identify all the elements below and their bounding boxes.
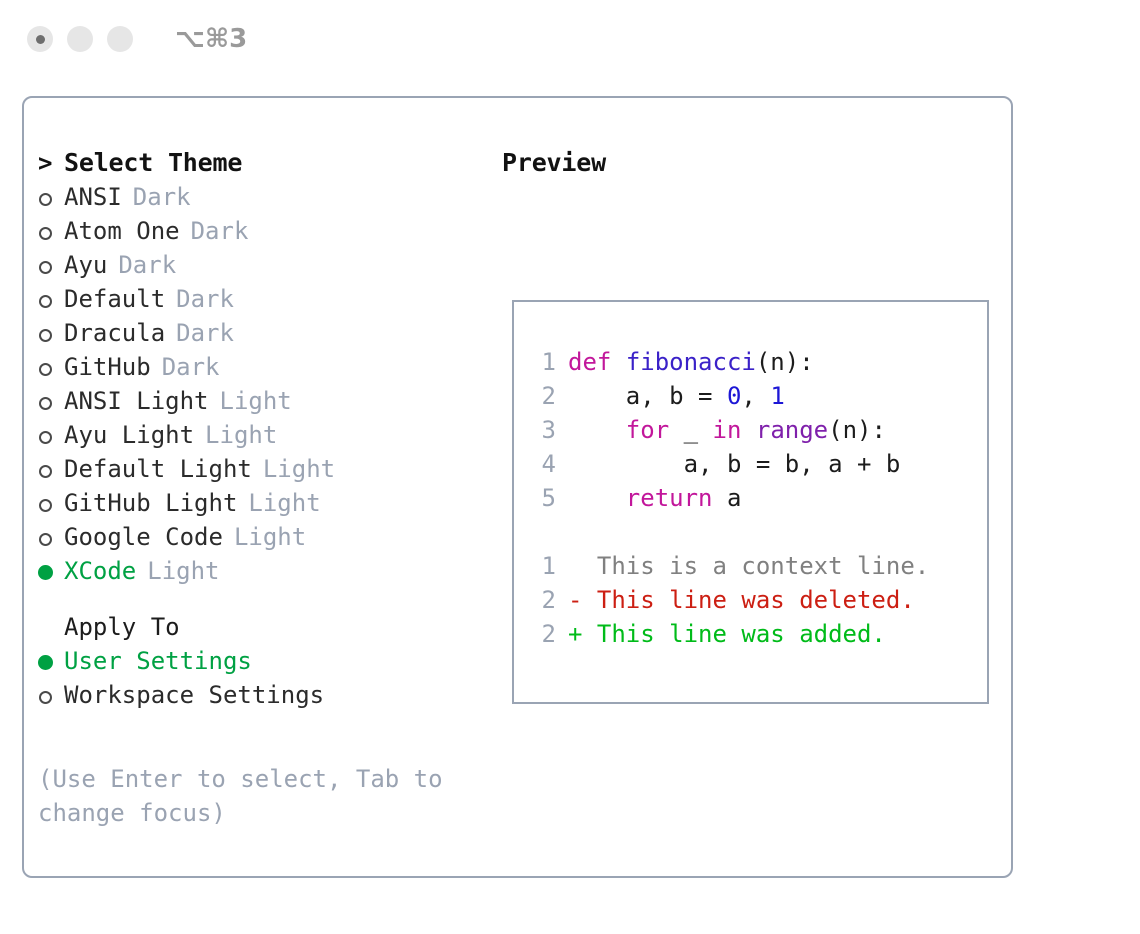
apply-to-option-label: User Settings xyxy=(64,644,252,678)
code-token: fibonacci xyxy=(626,348,756,376)
theme-option-label: Ayu Light xyxy=(64,418,194,452)
radio-empty-icon xyxy=(39,329,52,342)
code-token: a xyxy=(713,484,742,512)
theme-option-label: ANSI xyxy=(64,180,122,214)
window-titlebar: ⌥⌘3 xyxy=(0,0,1140,78)
theme-option-tag: Light xyxy=(263,452,335,486)
theme-option-marker xyxy=(38,554,64,588)
code-token xyxy=(568,416,626,444)
theme-option-marker xyxy=(38,316,64,350)
theme-option-row[interactable]: Atom OneDark xyxy=(38,214,494,248)
code-line: 5 return a xyxy=(534,481,929,515)
list-spacer xyxy=(38,588,494,610)
theme-option-tag: Light xyxy=(147,554,219,588)
code-token: , xyxy=(741,382,770,410)
apply-to-option-row[interactable]: User Settings xyxy=(38,644,494,678)
caret-icon: > xyxy=(38,146,64,180)
code-line-number: 5 xyxy=(534,481,556,515)
radio-empty-icon xyxy=(39,431,52,444)
diff-line: 2+ This line was added. xyxy=(534,617,929,651)
theme-option-row[interactable]: Ayu LightLight xyxy=(38,418,494,452)
theme-option-tag: Light xyxy=(234,520,306,554)
radio-empty-icon xyxy=(39,193,52,206)
app-window: ⌥⌘3 >Select Theme ANSIDarkAtom OneDarkAy… xyxy=(0,0,1140,934)
code-token: in xyxy=(713,416,742,444)
theme-option-label: XCode xyxy=(64,554,136,588)
theme-option-marker xyxy=(38,486,64,520)
main-card: >Select Theme ANSIDarkAtom OneDarkAyuDar… xyxy=(22,96,1013,878)
code-line: 4 a, b = b, a + b xyxy=(534,447,929,481)
theme-option-tag: Dark xyxy=(162,350,220,384)
theme-option-row[interactable]: XCodeLight xyxy=(38,554,494,588)
theme-option-label: Google Code xyxy=(64,520,223,554)
theme-option-label: GitHub xyxy=(64,350,151,384)
radio-empty-icon xyxy=(39,691,52,704)
shortcut-label: ⌥⌘3 xyxy=(175,26,247,52)
radio-empty-icon xyxy=(39,499,52,512)
theme-option-label: Default Light xyxy=(64,452,252,486)
theme-option-tag: Dark xyxy=(176,316,234,350)
theme-option-marker xyxy=(38,452,64,486)
preview-heading: Preview xyxy=(502,146,1002,180)
preview-panel: 1def fibonacci(n):2 a, b = 0, 13 for _ i… xyxy=(512,300,989,704)
apply-to-option-row[interactable]: Workspace Settings xyxy=(38,678,494,712)
theme-option-marker xyxy=(38,214,64,248)
theme-option-tag: Light xyxy=(220,384,292,418)
theme-option-tag: Dark xyxy=(118,248,176,282)
theme-option-row[interactable]: Default LightLight xyxy=(38,452,494,486)
radio-selected-icon xyxy=(38,565,53,580)
code-line-number: 2 xyxy=(534,379,556,413)
theme-option-tag: Light xyxy=(205,418,277,452)
radio-empty-icon xyxy=(39,397,52,410)
code-token: (n): xyxy=(828,416,886,444)
theme-option-marker xyxy=(38,418,64,452)
maximize-dot-icon[interactable] xyxy=(107,26,133,52)
code-line: 1def fibonacci(n): xyxy=(534,345,929,379)
radio-empty-icon xyxy=(39,227,52,240)
radio-empty-icon xyxy=(39,363,52,376)
radio-empty-icon xyxy=(39,295,52,308)
theme-option-row[interactable]: GitHubDark xyxy=(38,350,494,384)
code-line: 3 for _ in range(n): xyxy=(534,413,929,447)
close-dot-inner xyxy=(36,35,45,44)
diff-line-number: 2 xyxy=(534,617,556,651)
theme-list-column: >Select Theme ANSIDarkAtom OneDarkAyuDar… xyxy=(38,146,494,712)
minimize-dot-icon[interactable] xyxy=(67,26,93,52)
theme-option-row[interactable]: GitHub LightLight xyxy=(38,486,494,520)
diff-line: 2- This line was deleted. xyxy=(534,583,929,617)
diff-line-text: - This line was deleted. xyxy=(568,586,915,614)
code-token: range xyxy=(756,416,828,444)
theme-option-label: GitHub Light xyxy=(64,486,237,520)
theme-option-marker xyxy=(38,180,64,214)
theme-option-tag: Dark xyxy=(133,180,191,214)
theme-option-row[interactable]: AyuDark xyxy=(38,248,494,282)
theme-option-label: Dracula xyxy=(64,316,165,350)
code-token: def xyxy=(568,348,611,376)
code-token: a, b = b, a + b xyxy=(568,450,900,478)
theme-option-tag: Dark xyxy=(191,214,249,248)
code-token xyxy=(611,348,625,376)
code-token: 1 xyxy=(770,382,784,410)
preview-column: Preview xyxy=(502,146,1002,180)
code-line: 2 a, b = 0, 1 xyxy=(534,379,929,413)
apply-to-heading: Apply To xyxy=(38,610,494,644)
theme-option-marker xyxy=(38,282,64,316)
apply-to-option-label: Workspace Settings xyxy=(64,678,324,712)
radio-empty-icon xyxy=(39,465,52,478)
theme-option-row[interactable]: DraculaDark xyxy=(38,316,494,350)
radio-selected-icon xyxy=(38,655,53,670)
code-line-number: 1 xyxy=(534,345,556,379)
theme-option-tag: Dark xyxy=(176,282,234,316)
apply-to-option-marker xyxy=(38,644,64,678)
code-line-number: 3 xyxy=(534,413,556,447)
theme-option-label: Atom One xyxy=(64,214,180,248)
keyboard-hint: (Use Enter to select, Tab to change focu… xyxy=(38,762,458,830)
diff-line: 1 This is a context line. xyxy=(534,549,929,583)
close-dot-icon[interactable] xyxy=(27,26,53,52)
apply-to-options-list: User SettingsWorkspace Settings xyxy=(38,644,494,712)
theme-option-row[interactable]: ANSI LightLight xyxy=(38,384,494,418)
theme-option-marker xyxy=(38,350,64,384)
theme-options-list: ANSIDarkAtom OneDarkAyuDarkDefaultDarkDr… xyxy=(38,180,494,588)
theme-option-label: ANSI Light xyxy=(64,384,209,418)
card-inner: >Select Theme ANSIDarkAtom OneDarkAyuDar… xyxy=(24,98,1011,876)
theme-option-row[interactable]: Google CodeLight xyxy=(38,520,494,554)
theme-option-label: Default xyxy=(64,282,165,316)
radio-empty-icon xyxy=(39,533,52,546)
code-preview: 1def fibonacci(n):2 a, b = 0, 13 for _ i… xyxy=(534,345,929,651)
select-theme-heading-label: Select Theme xyxy=(64,146,242,180)
apply-to-option-marker xyxy=(38,678,64,712)
code-token xyxy=(741,416,755,444)
theme-option-marker xyxy=(38,248,64,282)
theme-option-marker xyxy=(38,520,64,554)
diff-line-number: 1 xyxy=(534,549,556,583)
code-token xyxy=(568,484,626,512)
code-gap xyxy=(534,515,929,549)
radio-empty-icon xyxy=(39,261,52,274)
theme-option-marker xyxy=(38,384,64,418)
diff-line-text: + This line was added. xyxy=(568,620,886,648)
code-line-number: 4 xyxy=(534,447,556,481)
theme-option-row[interactable]: ANSIDark xyxy=(38,180,494,214)
select-theme-heading: >Select Theme xyxy=(38,146,494,180)
code-token: return xyxy=(626,484,713,512)
theme-option-label: Ayu xyxy=(64,248,107,282)
code-token: for xyxy=(626,416,669,444)
apply-to-heading-label: Apply To xyxy=(64,610,180,644)
theme-option-tag: Light xyxy=(248,486,320,520)
diff-line-text: This is a context line. xyxy=(568,552,929,580)
diff-line-number: 2 xyxy=(534,583,556,617)
code-token: 0 xyxy=(727,382,741,410)
code-token: (n): xyxy=(756,348,814,376)
code-token: _ xyxy=(669,416,712,444)
theme-option-row[interactable]: DefaultDark xyxy=(38,282,494,316)
code-token: a, b = xyxy=(568,382,727,410)
